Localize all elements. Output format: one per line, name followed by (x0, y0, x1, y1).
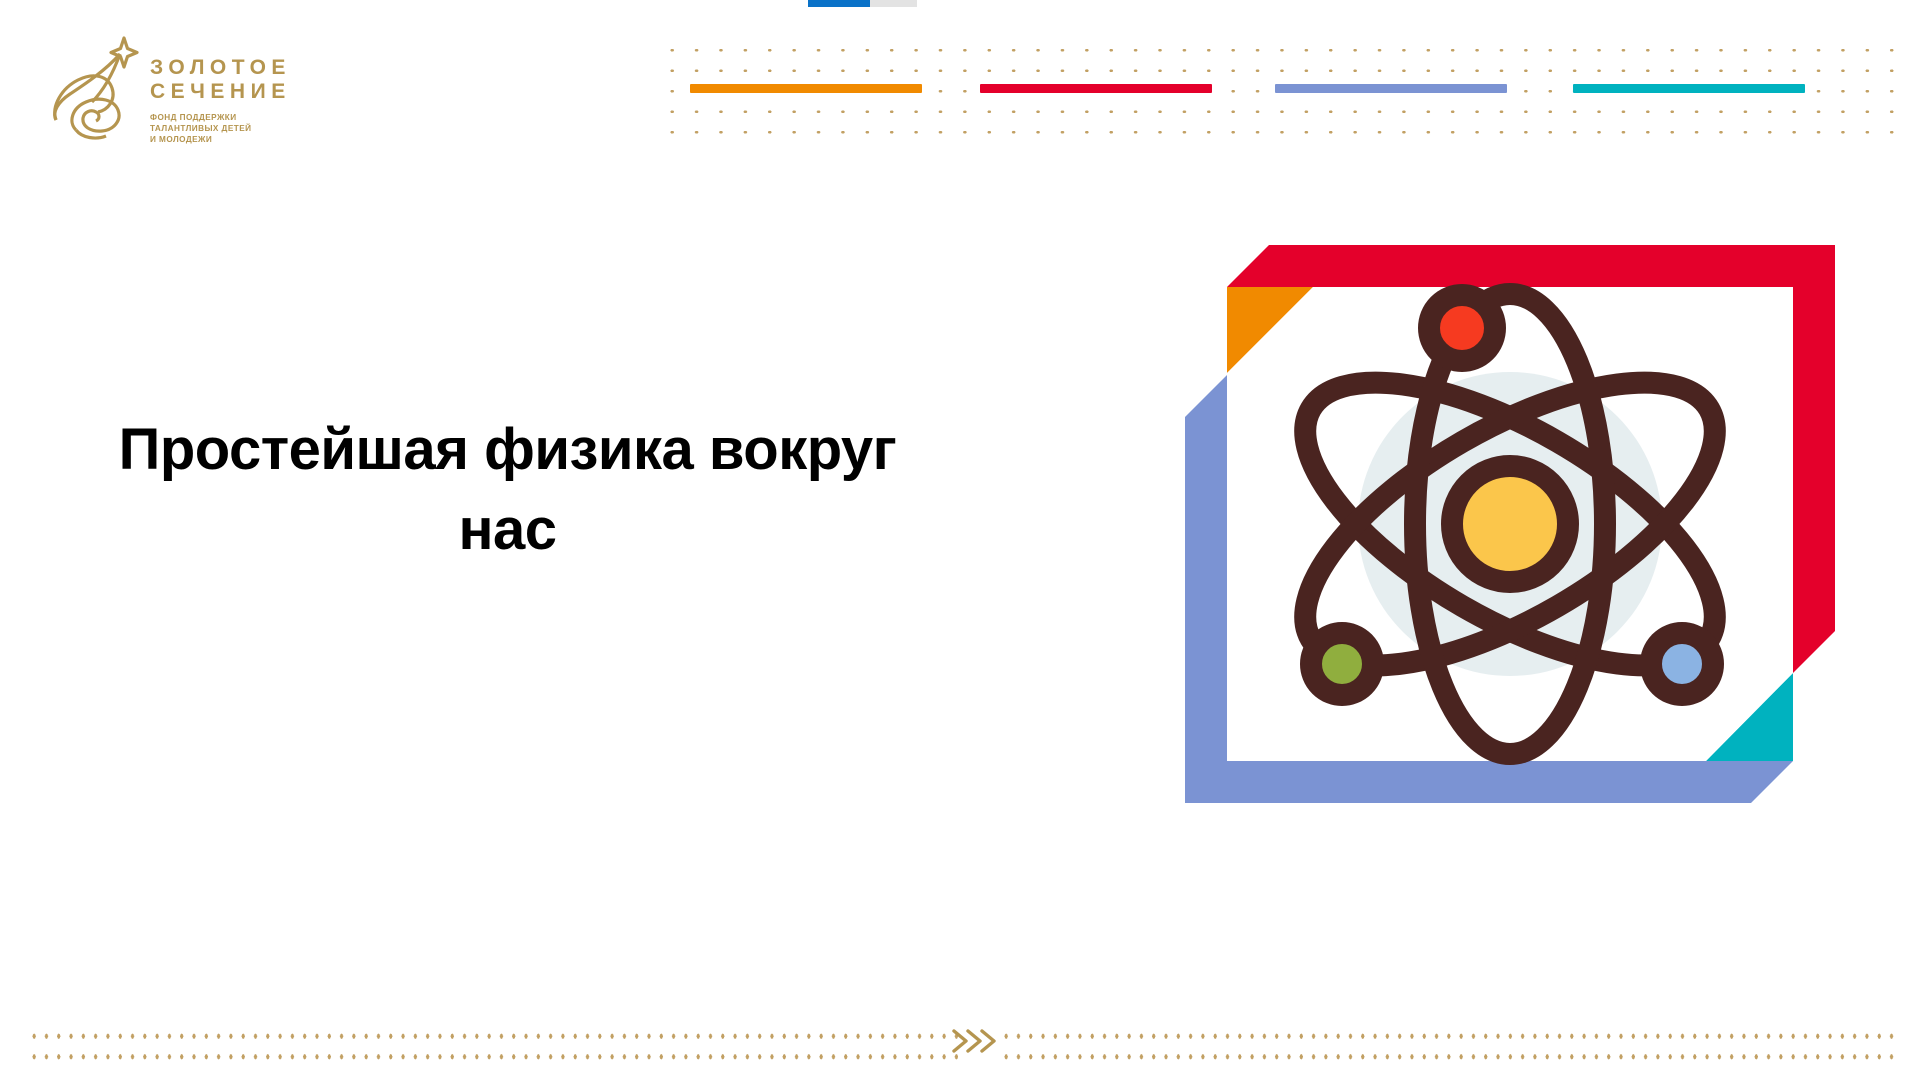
atom-electron-red (1429, 295, 1495, 361)
logo-line-1: ЗОЛОТОЕ (150, 56, 350, 80)
triple-chevron-right-icon (946, 1025, 1006, 1057)
header-decoration (660, 38, 1900, 138)
footer-dot-grid-left (28, 1022, 958, 1060)
logo-sub-2: ТАЛАНТЛИВЫХ ДЕТЕЙ (150, 123, 350, 134)
atom-electron-blue (1651, 633, 1713, 695)
atom-illustration (1185, 245, 1835, 803)
header-bar-teal (1573, 84, 1805, 93)
presentation-progress-bar[interactable] (808, 0, 917, 7)
footer-decoration (0, 1022, 1920, 1060)
slide-title: Простейшая физика вокруг нас (95, 410, 920, 570)
atom-illustration-svg (1185, 245, 1835, 803)
organization-logo: ЗОЛОТОЕ СЕЧЕНИЕ ФОНД ПОДДЕРЖКИ ТАЛАНТЛИВ… (42, 26, 352, 151)
logo-line-2: СЕЧЕНИЕ (150, 80, 350, 104)
header-bar-red (980, 84, 1212, 93)
logo-sub-3: И МОЛОДЕЖИ (150, 134, 350, 145)
atom-electron-green (1311, 633, 1373, 695)
logo-sub-1: ФОНД ПОДДЕРЖКИ (150, 112, 350, 123)
progress-fill (808, 0, 870, 7)
header-bar-blue (1275, 84, 1507, 93)
footer-dot-grid-right (1000, 1022, 1895, 1060)
logo-wordmark: ЗОЛОТОЕ СЕЧЕНИЕ ФОНД ПОДДЕРЖКИ ТАЛАНТЛИВ… (150, 56, 350, 145)
comet-quill-mark-icon (42, 26, 147, 148)
atom-nucleus (1452, 466, 1568, 582)
header-bar-orange (690, 84, 922, 93)
